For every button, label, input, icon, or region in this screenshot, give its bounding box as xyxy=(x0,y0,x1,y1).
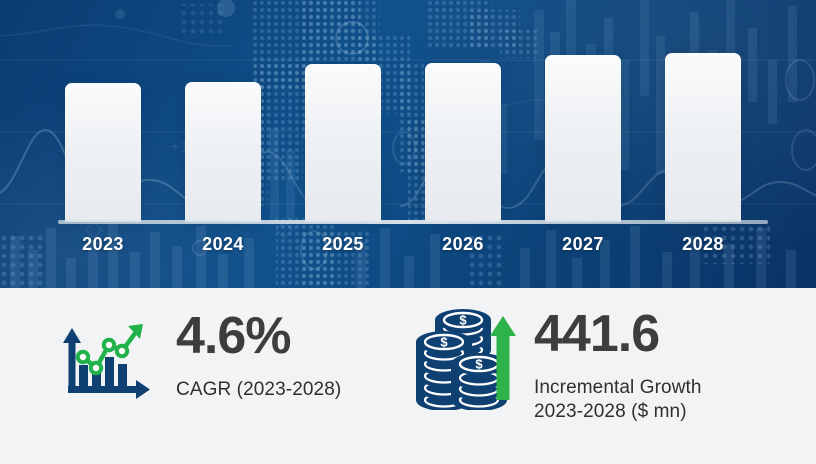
x-axis-label-2027: 2027 xyxy=(523,234,643,255)
chart-panel: +1 2023 2024 2025 2026 2027 2028 xyxy=(0,0,816,288)
bar-2027 xyxy=(545,55,621,222)
x-axis-label-2024: 2024 xyxy=(163,234,283,255)
bar-2026 xyxy=(425,63,501,222)
incremental-growth-value: 441.6 xyxy=(534,308,702,360)
bar-2025 xyxy=(305,64,381,222)
bar-chart-plot: 2023 2024 2025 2026 2027 2028 xyxy=(0,0,816,288)
stats-panel: 4.6% CAGR (2023-2028) $ xyxy=(0,288,816,464)
growth-chart-arrow-icon xyxy=(50,312,158,409)
incremental-growth-caption-line2: 2023-2028 ($ mn) xyxy=(534,400,702,424)
x-axis-label-2028: 2028 xyxy=(643,234,763,255)
x-axis-label-2023: 2023 xyxy=(43,234,163,255)
x-axis-label-2025: 2025 xyxy=(283,234,403,255)
stat-cagr: 4.6% CAGR (2023-2028) xyxy=(50,288,341,464)
cagr-value: 4.6% xyxy=(176,310,341,362)
stat-incremental-growth: $ xyxy=(412,288,702,464)
bar-2023 xyxy=(65,83,141,222)
infographic-root: +1 2023 2024 2025 2026 2027 2028 xyxy=(0,0,816,464)
coin-stacks-up-arrow-icon: $ xyxy=(412,306,518,415)
cagr-caption: CAGR (2023-2028) xyxy=(176,378,341,402)
cagr-text-block: 4.6% CAGR (2023-2028) xyxy=(176,310,341,402)
incremental-growth-caption-line1: Incremental Growth xyxy=(534,376,702,400)
bar-2028 xyxy=(665,53,741,222)
bar-2024 xyxy=(185,82,261,222)
incremental-growth-text-block: 441.6 Incremental Growth 2023-2028 ($ mn… xyxy=(534,308,702,425)
x-axis-label-2026: 2026 xyxy=(403,234,523,255)
chart-baseline-axis xyxy=(58,220,768,224)
